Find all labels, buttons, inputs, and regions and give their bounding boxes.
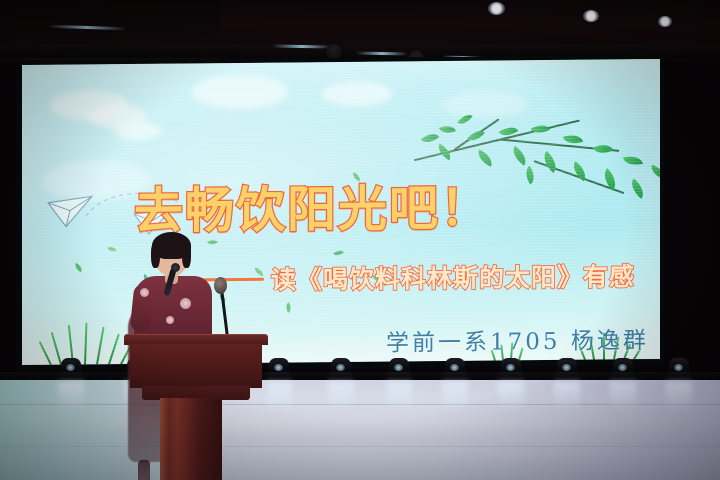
podium-column bbox=[160, 398, 222, 480]
dress-flower bbox=[180, 298, 191, 309]
moving-head-light bbox=[330, 358, 352, 380]
light-reflection bbox=[554, 382, 580, 412]
moving-head-light bbox=[60, 358, 82, 380]
floor-seam-line bbox=[0, 446, 720, 447]
ceiling-spotlight bbox=[488, 2, 505, 15]
stage-photo: 去畅饮阳光吧！ 读《喝饮料科林斯的太阳》有感 学前一系1705 杨逸群 指导老师… bbox=[0, 0, 720, 480]
light-reflection bbox=[498, 382, 524, 412]
microphone-head bbox=[171, 263, 180, 272]
light-reflection bbox=[610, 382, 636, 412]
moving-head-light bbox=[444, 358, 466, 380]
dress-flower bbox=[166, 316, 174, 324]
moving-head-light bbox=[268, 358, 290, 380]
ceiling-spotlight bbox=[583, 10, 599, 22]
ceiling-spotlight bbox=[658, 16, 672, 27]
moving-head-light bbox=[500, 358, 522, 380]
moving-head-light bbox=[388, 358, 410, 380]
podium-body bbox=[130, 344, 262, 388]
light-reflection bbox=[386, 382, 412, 412]
light-reflection bbox=[58, 382, 84, 412]
leg bbox=[138, 460, 150, 480]
student-presenter bbox=[118, 232, 268, 480]
moving-head-light bbox=[612, 358, 634, 380]
podium-highlight bbox=[160, 398, 169, 480]
dress-flower bbox=[140, 288, 149, 297]
light-reflection bbox=[266, 382, 292, 412]
moving-head-light bbox=[556, 358, 578, 380]
gooseneck-microphone bbox=[220, 290, 228, 336]
hair-side bbox=[182, 242, 191, 268]
gooseneck-microphone-head bbox=[214, 277, 227, 294]
hair-side bbox=[151, 242, 160, 268]
light-reflection bbox=[666, 382, 692, 412]
light-reflection bbox=[328, 382, 354, 412]
presentation-subtitle: 读《喝饮料科林斯的太阳》有感 bbox=[271, 257, 635, 296]
moving-head-light bbox=[668, 358, 690, 380]
light-reflection bbox=[442, 382, 468, 412]
